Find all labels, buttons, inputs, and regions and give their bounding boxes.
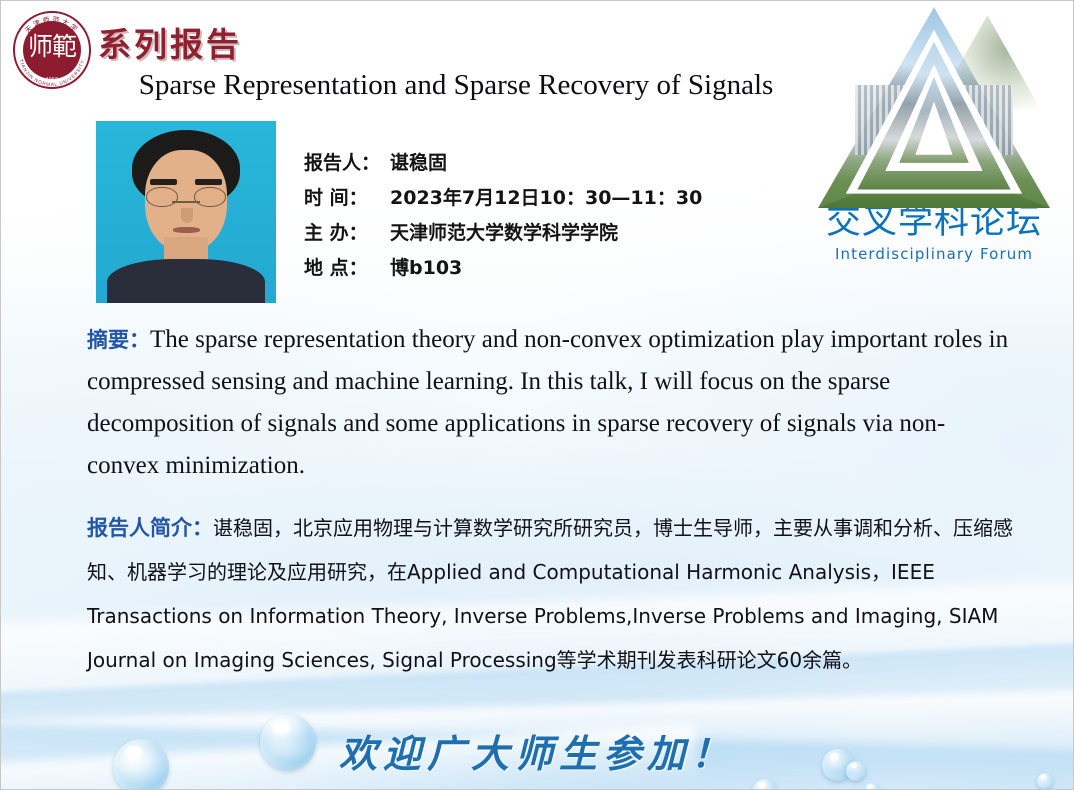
abstract-section: 摘要：The sparse representation theory and …: [87, 319, 1017, 487]
time-value: 2023年7月12日10：30—11：30: [390, 181, 702, 216]
speaker-value: 谌稳固: [390, 146, 447, 181]
portrait-glasses: [146, 187, 225, 207]
seal-arc-top-text: 天津师范大学: [24, 15, 82, 35]
detail-row-speaker: 报告人： 谌稳固: [304, 146, 702, 181]
portrait-mouth: [173, 227, 200, 233]
detail-row-host: 主 办： 天津师范大学数学科学学院: [304, 216, 702, 251]
detail-row-venue: 地 点： 博b103: [304, 251, 702, 286]
welcome-message: 欢迎广大师生参加！: [1, 723, 1073, 778]
water-droplet-icon: [865, 783, 879, 790]
series-report-heading: 系列报告: [98, 18, 242, 66]
speaker-portrait-photo: [96, 121, 276, 303]
host-label: 主 办：: [304, 216, 390, 251]
forum-name-chinese: 交叉学科论坛: [809, 204, 1059, 241]
venue-value: 博b103: [390, 251, 462, 286]
detail-row-time: 时 间： 2023年7月12日10：30—11：30: [304, 181, 702, 216]
venue-label: 地 点：: [304, 251, 390, 286]
portrait-lens-right: [194, 187, 226, 207]
abstract-text: The sparse representation theory and non…: [87, 326, 1008, 479]
biography-section: 报告人简介：谌稳固，北京应用物理与计算数学研究所研究员，博士生导师，主要从事调和…: [87, 506, 1017, 682]
triangle-logo-icon: [818, 3, 1050, 208]
seminar-poster: 师範 1958 天津师范大学 TIANJIN NORMAL UNIVERSITY…: [0, 0, 1074, 790]
portrait-shoulders: [107, 259, 265, 303]
biography-label: 报告人简介：: [87, 516, 213, 540]
biography-text: 谌稳固，北京应用物理与计算数学研究所研究员，博士生导师，主要从事调和分析、压缩感…: [87, 516, 1013, 672]
time-label: 时 间：: [304, 181, 390, 216]
portrait-glasses-bridge: [172, 201, 201, 203]
water-droplet-icon: [752, 779, 778, 790]
speaker-label: 报告人：: [304, 146, 390, 181]
forum-logo: 交叉学科论坛 Interdisciplinary Forum: [809, 3, 1059, 263]
page-title: Sparse Representation and Sparse Recover…: [61, 69, 851, 102]
forum-name-english: Interdisciplinary Forum: [809, 245, 1059, 263]
svg-text:天津师范大学: 天津师范大学: [24, 15, 82, 35]
talk-details: 报告人： 谌稳固 时 间： 2023年7月12日10：30—11：30 主 办：…: [304, 146, 702, 286]
portrait-brow-right: [195, 179, 222, 184]
host-value: 天津师范大学数学科学学院: [390, 216, 618, 251]
portrait-nose: [181, 208, 194, 223]
portrait-brow-left: [150, 179, 177, 184]
portrait-lens-left: [146, 187, 178, 207]
abstract-label: 摘要：: [87, 328, 150, 352]
